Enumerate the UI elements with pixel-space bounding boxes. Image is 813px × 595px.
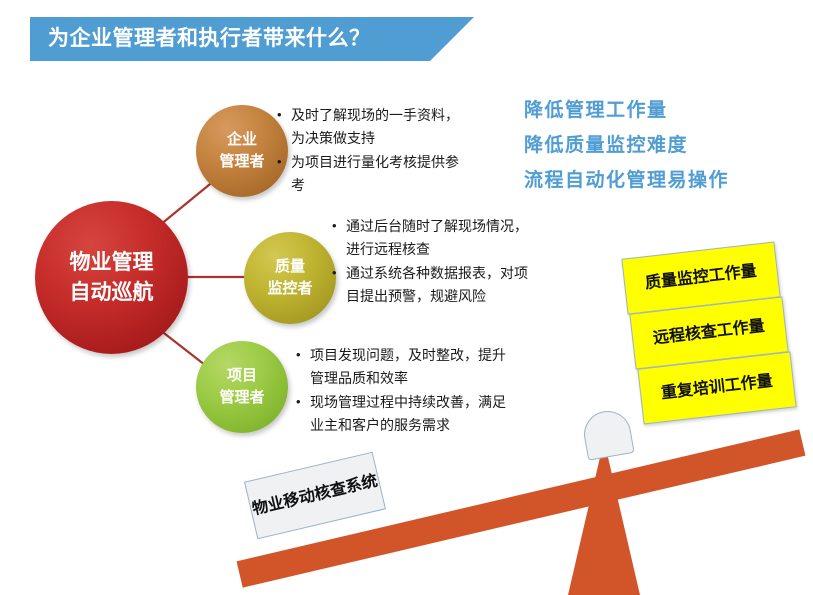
seesaw-fulcrum-triangle-icon — [568, 440, 640, 595]
seesaw-pivot-dome-icon — [580, 407, 634, 460]
slide-canvas: 为企业管理者和执行者带来什么？ 物业管理 自动巡航 企业 管理者 质量 监控者 … — [0, 0, 813, 595]
